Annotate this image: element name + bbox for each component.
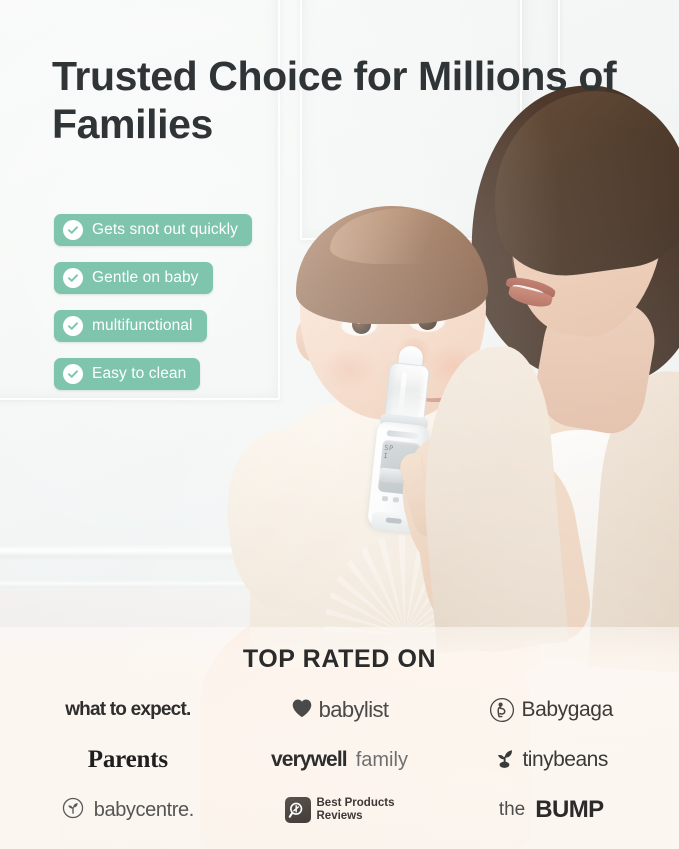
feature-pill-3: multifunctional (54, 310, 207, 342)
feature-pill-list: Gets snot out quickly Gentle on baby mul… (54, 214, 252, 390)
top-rated-heading: TOP RATED ON (0, 645, 679, 674)
baby-cheek (320, 348, 378, 392)
pregnant-circle-icon (489, 697, 515, 723)
press-logo-sublabel: Reviews (317, 810, 395, 823)
check-circle-icon (63, 316, 83, 336)
magnifier-square-icon (285, 797, 311, 823)
sprout-icon (494, 747, 516, 774)
press-logo-label: verywell (271, 748, 347, 772)
press-logo-label: the (499, 799, 525, 821)
check-circle-icon (63, 268, 83, 288)
check-circle-icon (63, 220, 83, 240)
press-logo-what-to-expect: what to expect. (65, 699, 190, 721)
press-logo-label: Babygaga (521, 698, 612, 722)
tree-circle-icon (62, 797, 88, 823)
device-button (382, 496, 388, 502)
press-logo-sublabel: BUMP (535, 796, 603, 824)
press-logo-label: Best Products (317, 797, 395, 810)
press-logo-parents: Parents (88, 746, 168, 774)
device-clear-chamber (384, 362, 430, 422)
press-logo-babycentre: babycentre. (62, 797, 194, 823)
feature-pill-2: Gentle on baby (54, 262, 213, 294)
top-rated-section: TOP RATED ON what to expect. babylist (0, 627, 679, 849)
heart-icon (291, 698, 313, 723)
feature-pill-label: Gets snot out quickly (92, 221, 238, 239)
page-title: Trusted Choice for Millions of Families (52, 52, 632, 149)
press-logo-label: Parents (88, 746, 168, 774)
press-logo-label: babylist (319, 697, 389, 723)
press-logo-text-block: Best Products Reviews (317, 797, 395, 823)
press-logo-the-bump: the BUMP (499, 796, 604, 824)
press-logo-sublabel: family (356, 749, 408, 772)
press-logo-grid: what to expect. babylist (22, 685, 657, 835)
promo-banner: SP I Trusted Choice for Millions of Fami… (0, 0, 679, 849)
press-logo-label: babycentre. (94, 799, 194, 822)
press-logo-tinybeans: tinybeans (494, 747, 607, 774)
feature-pill-label: Easy to clean (92, 365, 186, 383)
press-logo-babylist: babylist (291, 697, 389, 723)
press-logo-verywell-family: verywell family (271, 748, 408, 772)
press-logo-label: what to expect. (65, 699, 190, 721)
feature-pill-4: Easy to clean (54, 358, 200, 390)
press-logo-babygaga: Babygaga (489, 697, 612, 723)
press-logo-label: tinybeans (522, 748, 607, 772)
press-logo-best-products-reviews: Best Products Reviews (285, 797, 395, 823)
check-circle-icon (63, 364, 83, 384)
feature-pill-label: multifunctional (92, 317, 193, 335)
device-button (393, 497, 399, 503)
feature-pill-1: Gets snot out quickly (54, 214, 252, 246)
feature-pill-label: Gentle on baby (92, 269, 199, 287)
